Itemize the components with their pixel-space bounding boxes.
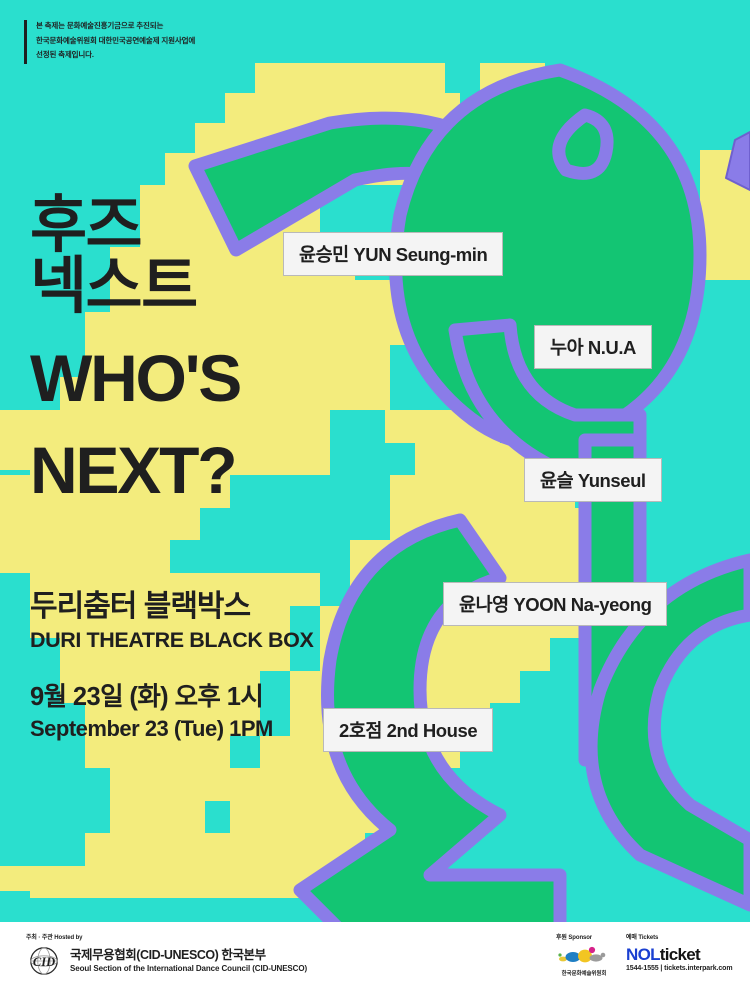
arts-council-korea-logo-icon (556, 946, 612, 966)
artist-tag-yunseul: 윤슬 Yunseul (524, 458, 662, 502)
nol-ticket-logo: NOLticket (626, 946, 732, 963)
host-label: 주최 · 주관 Hosted by (26, 932, 307, 941)
cid-unesco-logo-icon: CID (26, 946, 62, 976)
footer: 주최 · 주관 Hosted by CID 국제무용협회(CID-UNESCO)… (0, 922, 750, 1000)
event-date-korean: 9월 23일 (화) 오후 1시 (30, 682, 313, 713)
footer-host-section: 주최 · 주관 Hosted by CID 국제무용협회(CID-UNESCO)… (26, 932, 307, 976)
footer-ticket-section: 예매 Tickets NOLticket 1544-1555 | tickets… (626, 932, 732, 972)
funding-note-line-3: 선정된 축제입니다. (36, 49, 195, 61)
page-title: 후즈 넥스트 WHO'S NEXT? (30, 196, 240, 503)
footer-sponsor-section: 후원 Sponsor 한국문화예술위원회 (556, 932, 612, 978)
host-name-korean: 국제무용협회(CID-UNESCO) 한국본부 (70, 948, 307, 964)
venue-name-korean: 두리춤터 블랙박스 (30, 590, 313, 625)
funding-note-line-1: 본 축제는 문화예술진흥기금으로 추진되는 (36, 20, 195, 32)
event-date-english: September 23 (Tue) 1PM (30, 716, 313, 742)
nol-brand-secondary: ticket (660, 945, 700, 964)
title-english-line-1: WHO'S (30, 346, 240, 411)
sponsor-label: 후원 Sponsor (556, 932, 612, 941)
artist-tag-yoon-na-yeong: 윤나영 YOON Na-yeong (443, 582, 667, 626)
poster: 본 축제는 문화예술진흥기금으로 추진되는 한국문화예술위원회 대한민국공연예술… (0, 0, 750, 1000)
ticket-label: 예매 Tickets (626, 932, 732, 941)
title-english-line-2: NEXT? (30, 438, 240, 503)
ticket-contact: 1544-1555 | tickets.interpark.com (626, 965, 732, 972)
venue-name-english: DURI THEATRE BLACK BOX (30, 628, 313, 653)
sponsor-name: 한국문화예술위원회 (556, 972, 612, 978)
nol-brand-primary: NOL (626, 945, 660, 964)
artist-tag-nua: 누아 N.U.A (534, 325, 652, 369)
event-details: 두리춤터 블랙박스 DURI THEATRE BLACK BOX 9월 23일 … (30, 590, 313, 742)
title-korean-line-2: 넥스트 (30, 257, 240, 318)
svg-text:CID: CID (33, 955, 55, 969)
title-korean-line-1: 후즈 (30, 196, 240, 257)
artist-tag-2nd-house: 2호점 2nd House (323, 708, 493, 752)
funding-note: 본 축제는 문화예술진흥기금으로 추진되는 한국문화예술위원회 대한민국공연예술… (24, 20, 195, 64)
artist-tag-yun-seung-min: 윤승민 YUN Seung-min (283, 232, 503, 276)
funding-note-line-2: 한국문화예술위원회 대한민국공연예술제 지원사업에 (36, 35, 195, 47)
host-name-english: Seoul Section of the International Dance… (70, 964, 307, 974)
